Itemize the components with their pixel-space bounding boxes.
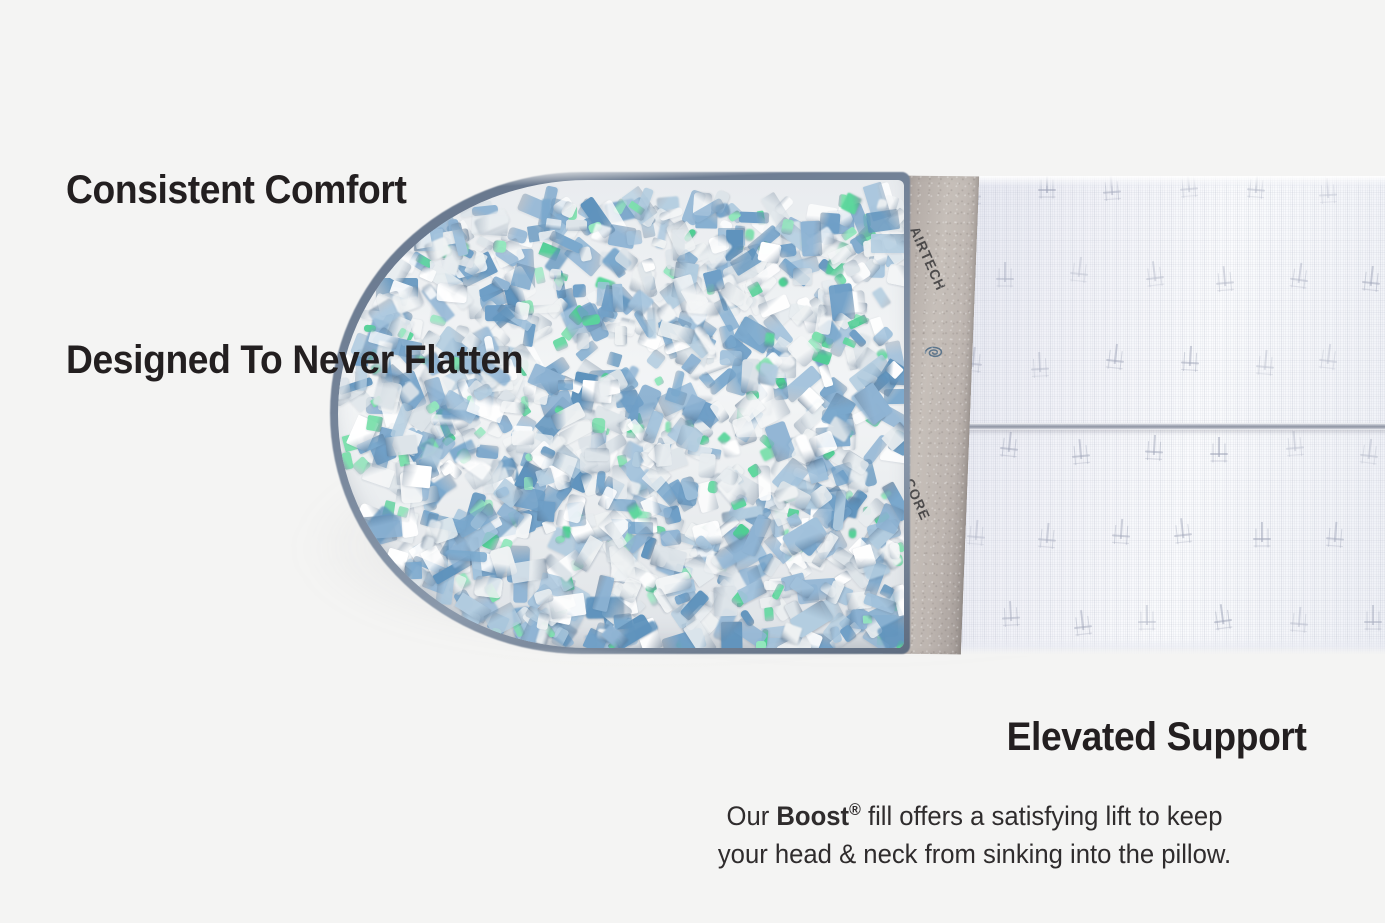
foam-chip	[474, 575, 503, 598]
diamond-quilt-motif	[1135, 605, 1161, 639]
foam-chip	[592, 417, 606, 432]
diamond-quilt-motif	[1169, 516, 1199, 553]
foam-chip	[887, 263, 904, 287]
description-suffix: fill offers a satisfying lift to keep	[861, 801, 1223, 831]
foam-chip	[562, 526, 571, 538]
foam-chip	[579, 246, 593, 262]
description-prefix: Our	[727, 801, 777, 831]
foam-chip	[739, 211, 769, 223]
foam-chip	[757, 241, 782, 264]
diamond-quilt-motif	[1141, 260, 1171, 297]
foam-chip	[801, 220, 822, 256]
foam-chip	[576, 332, 589, 349]
diamond-quilt-motif	[963, 519, 992, 555]
foam-chip	[524, 477, 533, 491]
foam-chip	[849, 528, 856, 538]
foam-chip	[720, 622, 742, 648]
diamond-quilt-motif	[1282, 430, 1311, 466]
diamond-quilt-motif	[1141, 434, 1169, 469]
foam-chip	[871, 234, 905, 253]
diamond-quilt-motif	[1250, 522, 1276, 556]
cover-bottom-hem	[960, 638, 1385, 656]
headline-line-1: Consistent Comfort	[66, 162, 523, 219]
diamond-quilt-motif	[1314, 342, 1344, 379]
foam-chip	[615, 326, 628, 345]
foam-chip	[537, 501, 555, 523]
foam-chip	[631, 452, 643, 468]
headline-line-2: Designed To Never Flatten	[66, 332, 523, 389]
foam-chip	[654, 443, 672, 466]
pillow-cover	[960, 176, 1385, 656]
diamond-quilt-motif	[1108, 518, 1136, 554]
feature-description: Our Boost® fill offers a satisfying lift…	[642, 797, 1307, 874]
foam-chip	[672, 229, 685, 260]
diamond-quilt-motif	[998, 601, 1026, 636]
foam-chip	[699, 453, 716, 478]
foam-chip	[573, 284, 587, 297]
foam-chip	[405, 562, 423, 579]
feature-subheading: Elevated Support	[1007, 715, 1307, 760]
foam-chip	[719, 350, 741, 367]
diamond-quilt-motif	[1321, 521, 1350, 557]
brand-name: Boost	[776, 801, 849, 831]
description-line-2: your head & neck from sinking into the p…	[642, 835, 1307, 873]
registered-trademark-mark: ®	[849, 800, 861, 819]
foam-chip	[565, 220, 587, 232]
spiral-swirl-logo	[922, 344, 945, 362]
diamond-quilt-motif	[1177, 345, 1205, 381]
diamond-quilt-motif	[1355, 437, 1385, 474]
foam-chip	[625, 230, 642, 246]
foam-chip	[645, 349, 666, 371]
foam-chip	[585, 448, 610, 462]
diamond-quilt-motif	[1357, 265, 1385, 302]
foam-chip	[606, 351, 622, 367]
foam-chip	[818, 364, 833, 387]
foam-chip	[889, 542, 900, 558]
cover-quilt-motifs	[960, 176, 1385, 656]
marketing-image-canvas: AIRTECH OW CORE Consistent Comfort Desig…	[0, 0, 1385, 923]
diamond-quilt-motif	[1033, 522, 1062, 558]
foam-chip	[612, 284, 623, 312]
diamond-quilt-motif	[1027, 351, 1055, 386]
diamond-quilt-motif	[1285, 261, 1315, 298]
foam-chip	[871, 286, 891, 308]
foam-chip	[654, 376, 665, 387]
diamond-quilt-motif	[1101, 342, 1131, 379]
foam-chip	[550, 268, 562, 279]
core-band-label-top: AIRTECH	[907, 224, 950, 293]
foam-chip	[558, 380, 573, 390]
gusset-piping-seam	[960, 423, 1385, 430]
foam-chip	[549, 593, 586, 619]
cover-top-hem	[960, 176, 1385, 186]
diamond-quilt-motif	[1067, 437, 1096, 473]
foam-chip	[534, 266, 546, 283]
diamond-quilt-motif	[1065, 256, 1095, 293]
foam-chip	[360, 515, 403, 540]
foam-chip	[862, 615, 872, 624]
foam-chip	[778, 276, 790, 288]
diamond-quilt-motif	[1361, 605, 1385, 639]
foam-chip	[646, 308, 656, 339]
description-line-1: Our Boost® fill offers a satisfying lift…	[642, 797, 1307, 835]
diamond-quilt-motif	[1207, 437, 1233, 471]
foam-chip	[756, 641, 766, 648]
page-headline: Consistent Comfort Designed To Never Fla…	[66, 48, 523, 502]
diamond-quilt-motif	[1251, 349, 1280, 385]
diamond-quilt-motif	[1211, 265, 1240, 301]
foam-chip	[793, 268, 812, 285]
foam-chip	[764, 333, 775, 348]
diamond-quilt-motif	[993, 262, 1019, 296]
diamond-quilt-motif	[1209, 602, 1239, 639]
diamond-quilt-motif	[995, 431, 1024, 468]
